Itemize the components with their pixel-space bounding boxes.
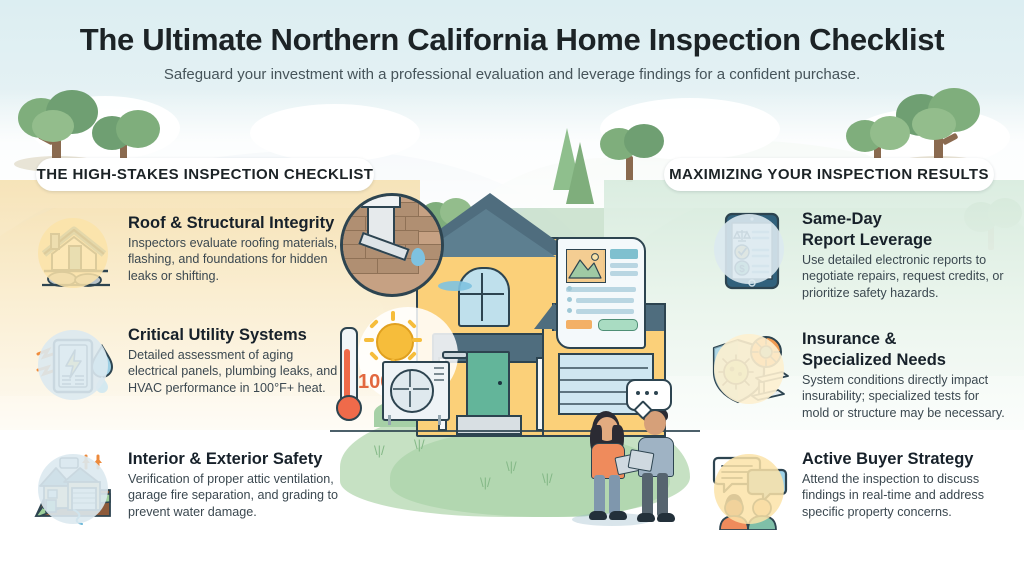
cloud-center-left <box>250 104 420 162</box>
report-thumb-mountain <box>567 250 603 280</box>
item-title-line1: Insurance & <box>802 330 1008 349</box>
item-title: Critical Utility Systems <box>128 326 342 345</box>
window-mullion-vertical <box>481 273 483 321</box>
page-title: The Ultimate Northern California Home In… <box>0 22 1024 58</box>
hvac-fan <box>390 369 434 413</box>
central-house-illustration: 100°F+ \|/ \|/ \|/ \|/ \|/ <box>330 175 700 570</box>
window-mullion-horizontal <box>460 293 504 295</box>
report-chip-green <box>598 319 638 331</box>
front-door <box>466 351 510 423</box>
item-body: Detailed assessment of aging electrical … <box>128 347 342 397</box>
checklist-item-roof-structural[interactable]: Roof & Structural Integrity Inspectors e… <box>32 214 342 292</box>
shield-mold-beam-icon <box>708 330 796 408</box>
roof-leak-puddle <box>438 281 472 291</box>
item-title-line1: Same-Day <box>802 210 1008 229</box>
item-title: Interior & Exterior Safety <box>128 450 344 469</box>
item-body: Inspectors evaluate roofing materials, f… <box>128 235 342 285</box>
item-body: System conditions directly impact insura… <box>802 372 1008 422</box>
left-section-heading: THE HIGH-STAKES INSPECTION CHECKLIST <box>36 158 374 191</box>
item-title-line2: Specialized Needs <box>802 351 1008 370</box>
door-knob <box>498 381 502 385</box>
result-item-insurance-specialized[interactable]: Insurance & Specialized Needs System con… <box>708 330 1008 421</box>
page-subtitle: Safeguard your investment with a profess… <box>0 66 1024 83</box>
item-title-line2: Report Leverage <box>802 231 1008 250</box>
item-body: Verification of proper attic ventilation… <box>128 471 344 521</box>
arched-window <box>458 267 510 327</box>
right-section-heading: MAXIMIZING YOUR INSPECTION RESULTS <box>664 158 994 191</box>
thermometer-icon <box>336 327 358 431</box>
item-body: Attend the inspection to discuss finding… <box>802 471 1008 521</box>
checklist-item-interior-exterior-safety[interactable]: Interior & Exterior Safety Verification … <box>32 450 344 528</box>
roof-magnifier <box>340 193 444 297</box>
item-body: Use detailed electronic reports to negot… <box>802 252 1008 302</box>
checklist-item-utility-systems[interactable]: Critical Utility Systems Detailed assess… <box>32 326 342 404</box>
item-title-line1: Active Buyer Strategy <box>802 450 1008 469</box>
result-item-same-day-report[interactable]: $ Same-Day Report Leverage Use detailed … <box>708 210 1008 301</box>
item-title: Roof & Structural Integrity <box>128 214 342 233</box>
hvac-pipe <box>442 351 468 359</box>
front-steps <box>456 415 522 435</box>
speech-bubbles-people-icon <box>708 450 796 528</box>
report-chip-orange <box>566 320 592 329</box>
house-foundation-icon <box>32 214 120 292</box>
result-item-active-buyer-strategy[interactable]: Active Buyer Strategy Attend the inspect… <box>708 450 1008 528</box>
infographic-canvas: The Ultimate Northern California Home In… <box>0 0 1024 572</box>
inspector-figure-male <box>628 405 688 523</box>
tablet-report-icon: $ <box>708 210 796 288</box>
house-garage-grading-icon <box>32 450 120 528</box>
electrical-panel-water-drop-icon <box>32 326 120 404</box>
